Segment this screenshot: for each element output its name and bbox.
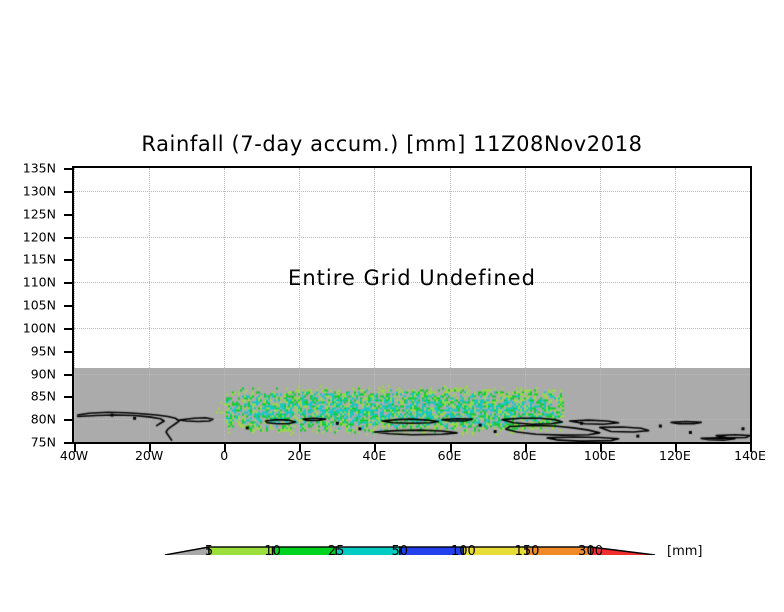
colorbar-tick-label: 5 — [205, 544, 213, 559]
colorbar-tick-label: 300 — [578, 544, 603, 559]
y-axis-tick-mark — [64, 259, 72, 261]
y-axis-tick-mark — [64, 374, 72, 376]
x-axis-tick-mark — [450, 444, 452, 452]
y-axis-tick-mark — [64, 191, 72, 193]
gridline-vertical — [750, 168, 751, 442]
y-axis-tick-mark — [64, 351, 72, 353]
x-axis-tick-mark — [675, 444, 677, 452]
y-axis-tick-mark — [64, 305, 72, 307]
y-axis-tick-mark — [64, 442, 72, 444]
x-axis-labels: 40W20W020E40E60E80E100E120E140E — [0, 448, 784, 468]
colorbar-segment — [209, 547, 273, 555]
colorbar-unit-label: [mm] — [667, 544, 702, 559]
colorbar-tick-label: 25 — [328, 544, 345, 559]
y-axis-tick-label: 115N — [23, 252, 56, 267]
undefined-overlay-text: Entire Grid Undefined — [74, 266, 750, 290]
colorbar-tick-label: 150 — [515, 544, 540, 559]
y-axis-tick-mark — [64, 168, 72, 170]
x-axis-tick-mark — [600, 444, 602, 452]
colorbar-segment — [336, 547, 400, 555]
x-axis-tick-mark — [224, 444, 226, 452]
figure-canvas: Rainfall (7-day accum.) [mm] 11Z08Nov201… — [0, 0, 784, 612]
y-axis-tick-label: 80N — [31, 412, 56, 427]
y-axis-tick-label: 130N — [23, 183, 56, 198]
colorbar-segment — [273, 547, 337, 555]
colorbar-extend-low — [165, 547, 209, 555]
colorbar-tick-label: 50 — [392, 544, 409, 559]
x-axis-tick-mark — [149, 444, 151, 452]
y-axis-tick-label: 125N — [23, 206, 56, 221]
colorbar-tick-label: 100 — [451, 544, 476, 559]
y-axis-tick-label: 95N — [31, 343, 56, 358]
y-axis-tick-label: 85N — [31, 389, 56, 404]
y-axis-tick-mark — [64, 214, 72, 216]
x-axis-tick-mark — [525, 444, 527, 452]
colorbar-tick-label: 10 — [264, 544, 281, 559]
y-axis-tick-mark — [64, 328, 72, 330]
x-axis-tick-mark — [374, 444, 376, 452]
y-axis-tick-label: 120N — [23, 229, 56, 244]
y-axis-tick-mark — [64, 396, 72, 398]
map-plot-inner: Entire Grid Undefined — [74, 168, 750, 442]
y-axis-labels: 135N130N125N120N115N110N105N100N95N90N85… — [0, 166, 66, 444]
y-axis-tick-label: 100N — [23, 320, 56, 335]
rainfall-map-layer — [74, 168, 750, 442]
map-plot-area[interactable]: Entire Grid Undefined — [72, 166, 752, 444]
y-axis-tick-mark — [64, 237, 72, 239]
x-axis-tick-mark — [299, 444, 301, 452]
chart-title: Rainfall (7-day accum.) [mm] 11Z08Nov201… — [0, 132, 784, 156]
x-axis-tick-mark — [750, 444, 752, 452]
y-axis-tick-mark — [64, 419, 72, 421]
y-axis-tick-label: 135N — [23, 161, 56, 176]
y-axis-tick-label: 90N — [31, 366, 56, 381]
y-axis-tick-label: 110N — [23, 275, 56, 290]
x-axis-tick-mark — [74, 444, 76, 452]
y-axis-tick-mark — [64, 282, 72, 284]
y-axis-tick-label: 105N — [23, 298, 56, 313]
